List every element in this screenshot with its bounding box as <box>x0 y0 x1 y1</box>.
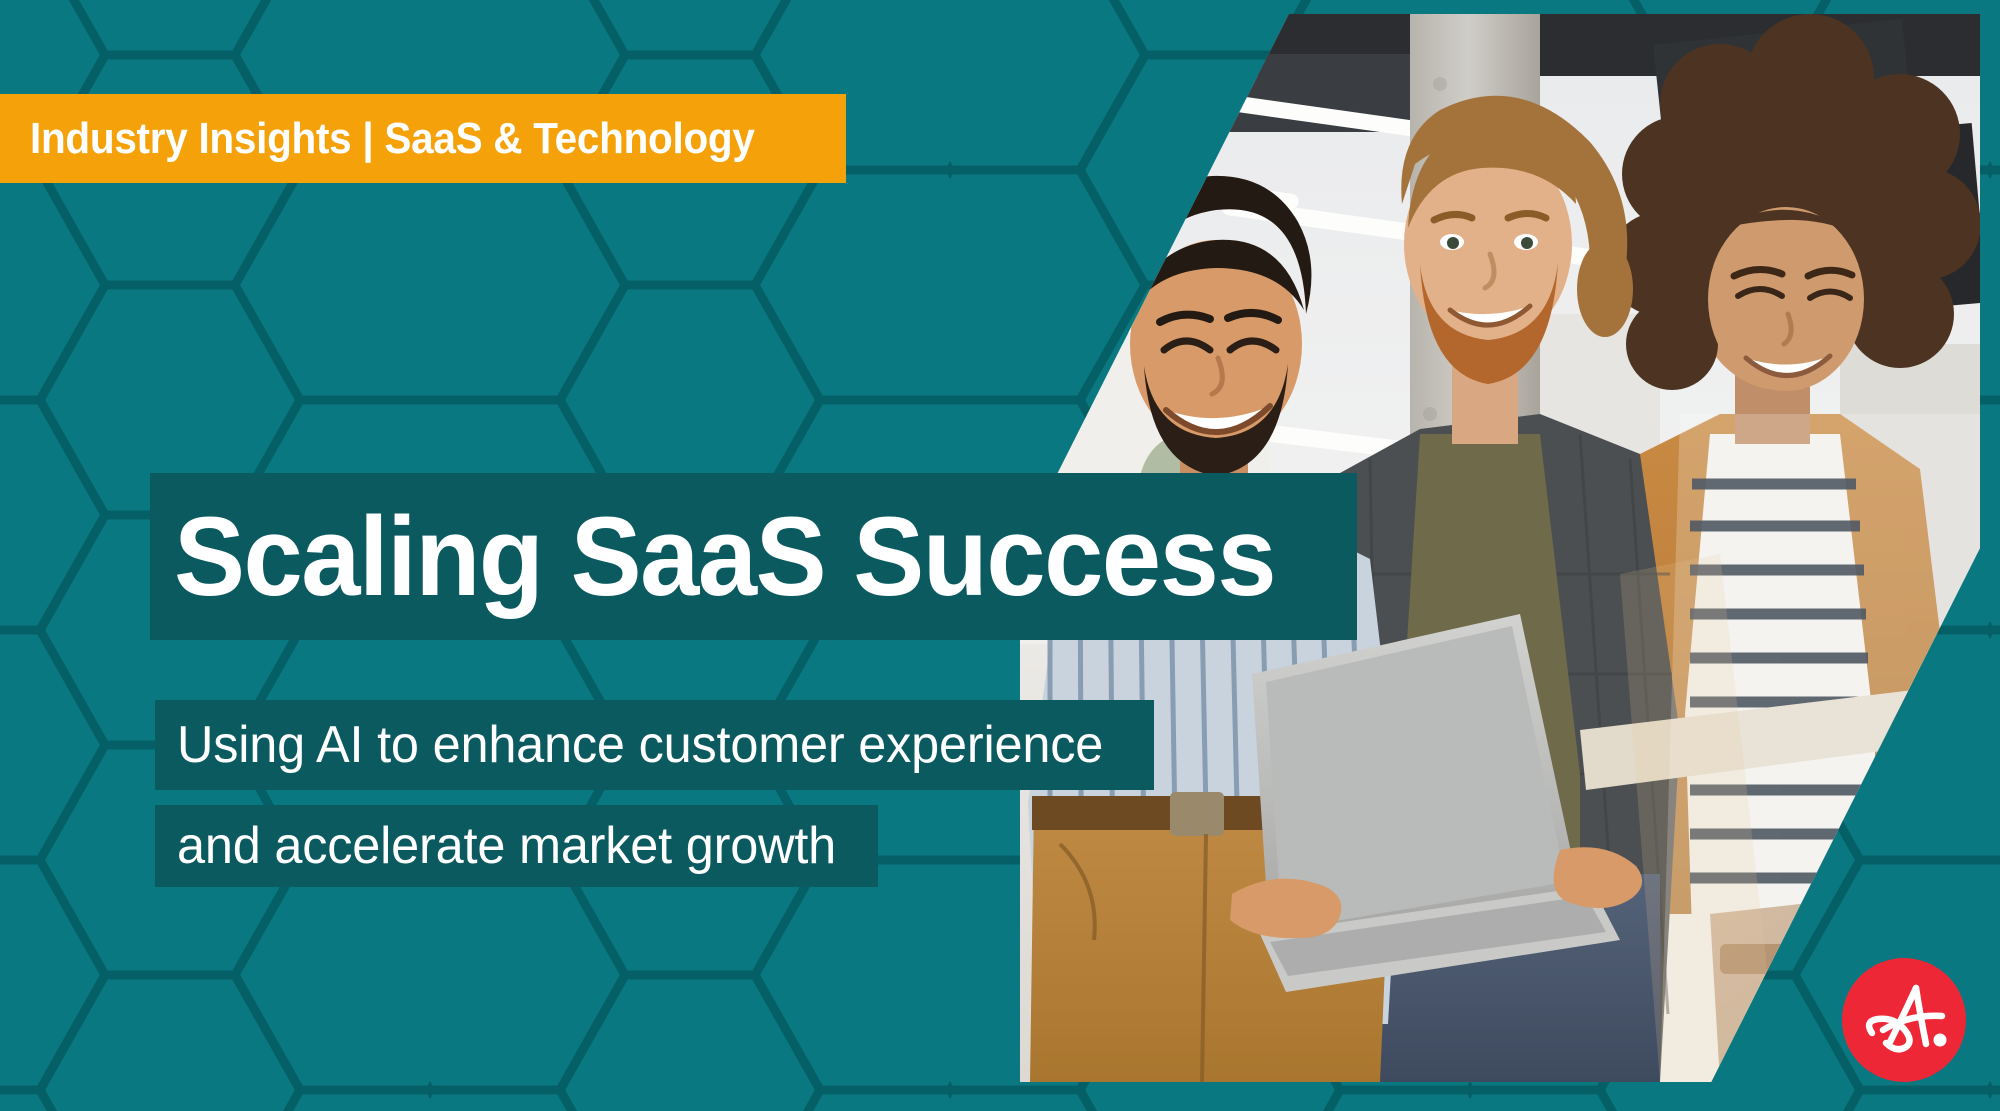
subtitle-line-2: and accelerate market growth <box>177 820 836 872</box>
promo-banner-canvas: Industry Insights | SaaS & Technology Sc… <box>0 0 2000 1111</box>
page-title-band: Scaling SaaS Success <box>150 473 1357 640</box>
subtitle-line-1: Using AI to enhance customer experience <box>177 719 1103 771</box>
subtitle-band-line-1: Using AI to enhance customer experience <box>155 700 1154 790</box>
eyebrow-label: Industry Insights | SaaS & Technology <box>30 114 755 164</box>
page-title: Scaling SaaS Success <box>174 501 1275 613</box>
brand-logo[interactable] <box>1842 958 1966 1082</box>
logo-period-icon <box>1934 1034 1947 1047</box>
eyebrow-banner: Industry Insights | SaaS & Technology <box>0 94 846 183</box>
subtitle-band-line-2: and accelerate market growth <box>155 805 878 887</box>
